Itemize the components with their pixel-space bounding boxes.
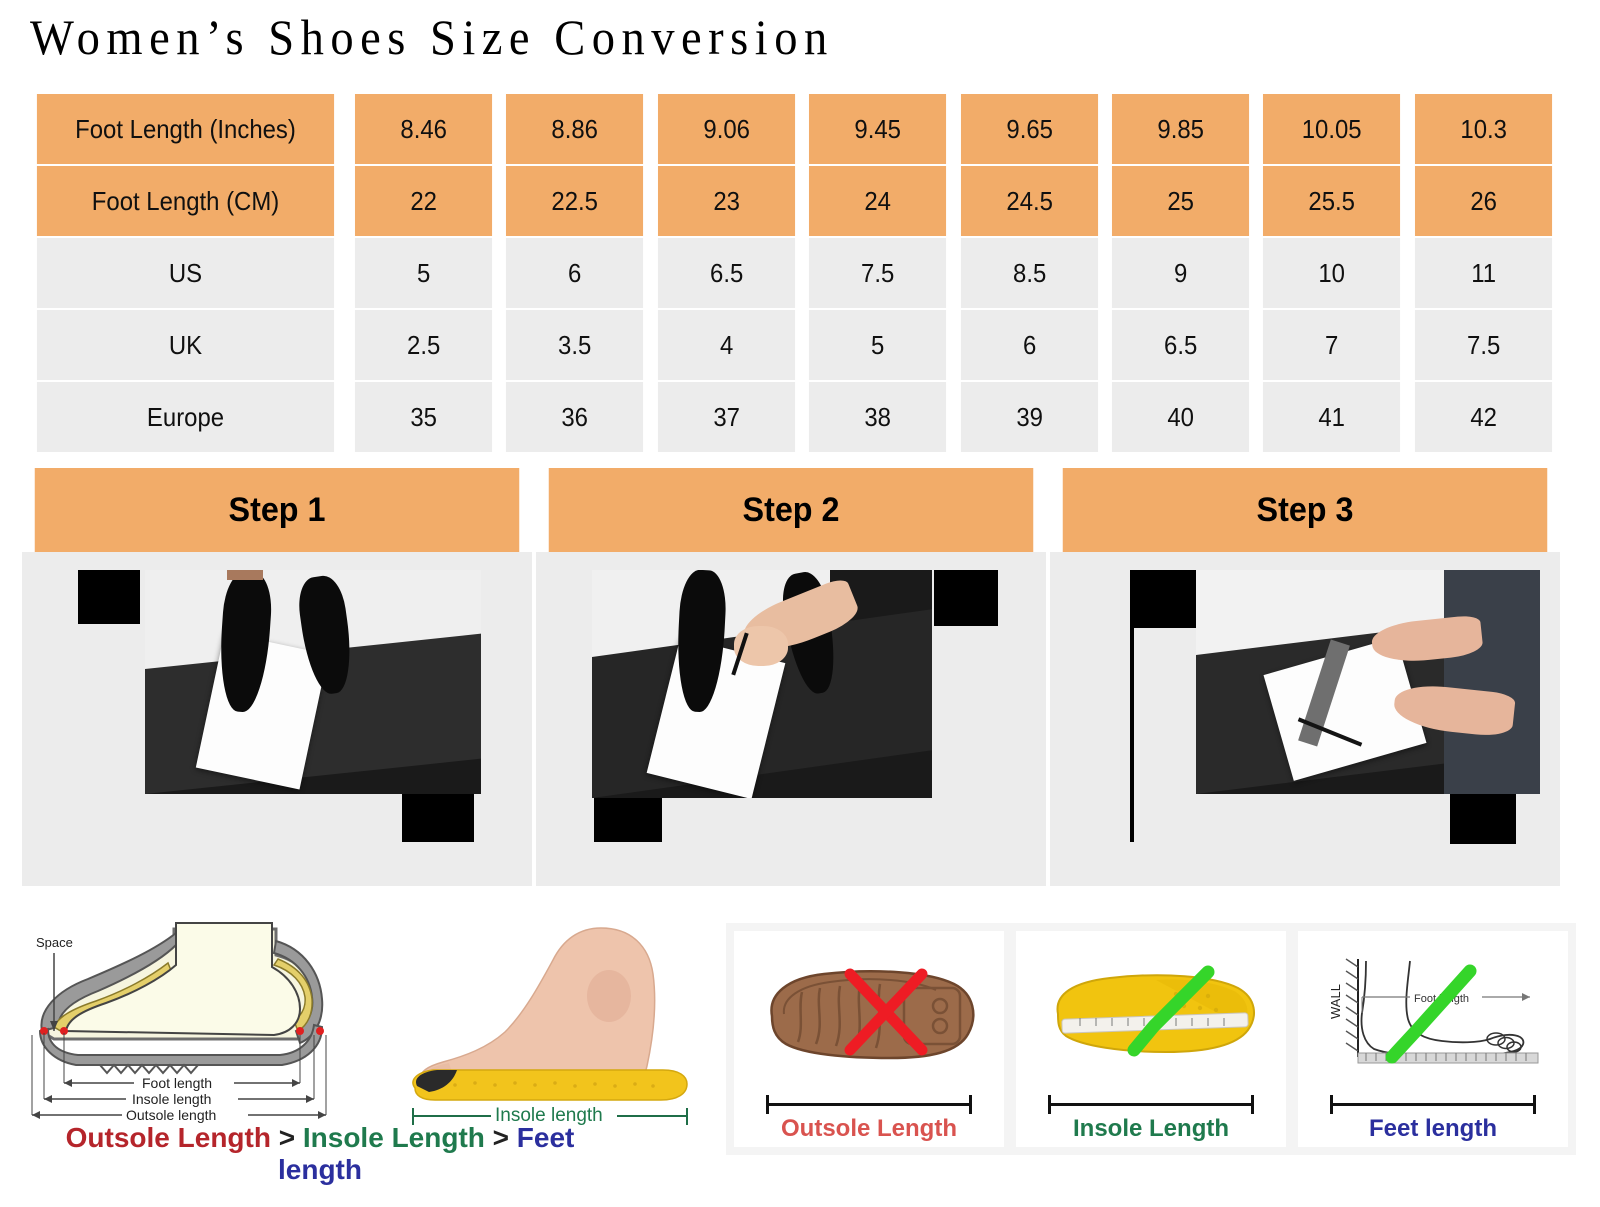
panel-label: Feet length — [1369, 1115, 1497, 1143]
panel-outsole: Outsole Length — [734, 931, 1004, 1147]
table-cell: 4 — [658, 310, 795, 380]
table-cell: 37 — [658, 382, 795, 452]
space-label: Space — [36, 935, 73, 950]
yellow-insole-icon — [1016, 931, 1286, 1095]
corner-block — [1130, 570, 1196, 628]
step-heading: Step 2 — [549, 468, 1034, 552]
table-cell: 25 — [1112, 166, 1249, 236]
panel-feet-length: WALL — [1298, 931, 1568, 1147]
measurement-comparison-panels: Outsole Length — [726, 923, 1576, 1155]
table-cell: 10.3 — [1415, 94, 1552, 164]
table-cell: 23 — [658, 166, 795, 236]
outsole-length-label: Outsole length — [126, 1107, 216, 1123]
row-label: Foot Length (Inches) — [37, 94, 334, 164]
caption-insole: Insole Length — [303, 1122, 485, 1153]
table-cell: 6 — [960, 310, 1097, 380]
measuring-outline-with-ruler-photo — [1196, 570, 1540, 794]
row-label: US — [37, 238, 334, 308]
foot-against-wall-icon: WALL — [1298, 931, 1568, 1095]
vertical-bar — [1130, 570, 1134, 842]
table-cell: 25.5 — [1263, 166, 1400, 236]
table-cell: 22 — [355, 166, 492, 236]
corner-block — [78, 570, 140, 624]
table-cell: 7.5 — [809, 238, 946, 308]
table-cell: 9.45 — [809, 94, 946, 164]
table-cell: 6.5 — [1112, 310, 1249, 380]
table-cell: 8.5 — [960, 238, 1097, 308]
step-heading: Step 1 — [35, 468, 520, 552]
table-cell: 7 — [1263, 310, 1400, 380]
table-cell: 40 — [1112, 382, 1249, 452]
wall-label: WALL — [1328, 984, 1343, 1019]
table-cell: 5 — [809, 310, 946, 380]
table-cell: 3.5 — [506, 310, 643, 380]
measure-bar — [1048, 1095, 1253, 1113]
table-cell: 9 — [1112, 238, 1249, 308]
caption-sep-2: > — [493, 1122, 509, 1153]
table-cell: 2.5 — [355, 310, 492, 380]
tracing-foot-with-pencil-photo — [592, 570, 932, 798]
table-cell: 35 — [355, 382, 492, 452]
step-column-2: Step 2 — [536, 468, 1046, 886]
caption-sep-1: > — [279, 1122, 295, 1153]
table-row: US 5 6 6.5 7.5 8.5 9 10 11 — [24, 238, 1558, 308]
shoe-outsole-icon — [734, 931, 1004, 1095]
table-row: Foot Length (Inches) 8.46 8.86 9.06 9.45… — [24, 94, 1558, 164]
table-cell: 9.85 — [1112, 94, 1249, 164]
length-order-caption: Outsole Length > Insole Length > Feet le… — [20, 1122, 620, 1186]
table-cell: 41 — [1263, 382, 1400, 452]
table-cell: 11 — [1415, 238, 1552, 308]
measure-bar — [1330, 1095, 1535, 1113]
row-label: Foot Length (CM) — [37, 166, 334, 236]
table-cell: 6 — [506, 238, 643, 308]
table-cell: 26 — [1415, 166, 1552, 236]
caption-outsole: Outsole Length — [66, 1122, 271, 1153]
table-row: Europe 35 36 37 38 39 40 41 42 — [24, 382, 1558, 452]
table-cell: 24 — [809, 166, 946, 236]
panel-label: Insole Length — [1073, 1115, 1229, 1143]
table-cell: 5 — [355, 238, 492, 308]
table-cell: 6.5 — [658, 238, 795, 308]
measure-bar — [766, 1095, 971, 1113]
table-cell: 7.5 — [1415, 310, 1552, 380]
table-cell: 8.86 — [506, 94, 643, 164]
table-cell: 24.5 — [960, 166, 1097, 236]
table-cell: 38 — [809, 382, 946, 452]
page-title: Women’s Shoes Size Conversion — [30, 8, 834, 66]
steps-section: Step 1 Step 2 — [22, 468, 1560, 886]
feet-on-paper-photo — [145, 570, 481, 794]
row-label: Europe — [37, 382, 334, 452]
table-cell: 22.5 — [506, 166, 643, 236]
corner-block — [934, 570, 998, 626]
table-row: Foot Length (CM) 22 22.5 23 24 24.5 25 2… — [24, 166, 1558, 236]
shoe-cross-section-diagram: Space Foot length Insole length — [14, 915, 404, 1125]
step-column-1: Step 1 — [22, 468, 532, 886]
size-chart-page: Women’s Shoes Size Conversion Foot Lengt… — [0, 0, 1600, 1207]
table-cell: 10.05 — [1263, 94, 1400, 164]
step-heading: Step 3 — [1063, 468, 1548, 552]
table-cell: 8.46 — [355, 94, 492, 164]
panel-label: Outsole Length — [781, 1115, 957, 1143]
table-cell: 36 — [506, 382, 643, 452]
panel-insole: Insole Length — [1016, 931, 1286, 1147]
table-cell: 9.06 — [658, 94, 795, 164]
table-cell: 9.65 — [960, 94, 1097, 164]
corner-block — [1450, 786, 1516, 844]
step-body-2 — [536, 552, 1046, 886]
table-cell: 39 — [960, 382, 1097, 452]
table-cell: 42 — [1415, 382, 1552, 452]
step-column-3: Step 3 — [1050, 468, 1560, 886]
shoe-cross-section-svg: Space Foot length Insole length — [14, 915, 404, 1125]
step-body-3 — [1050, 552, 1560, 886]
table-row: UK 2.5 3.5 4 5 6 6.5 7 7.5 — [24, 310, 1558, 380]
row-label: UK — [37, 310, 334, 380]
insole-length-label: Insole length — [132, 1091, 211, 1107]
foot-on-insole-diagram: Insole length — [395, 920, 715, 1125]
table-cell: 10 — [1263, 238, 1400, 308]
step-body-1 — [22, 552, 532, 886]
foot-length-label: Foot length — [142, 1075, 212, 1091]
size-conversion-table: Foot Length (Inches) 8.46 8.86 9.06 9.45… — [22, 92, 1560, 454]
foot-on-insole-svg: Insole length — [395, 920, 715, 1125]
